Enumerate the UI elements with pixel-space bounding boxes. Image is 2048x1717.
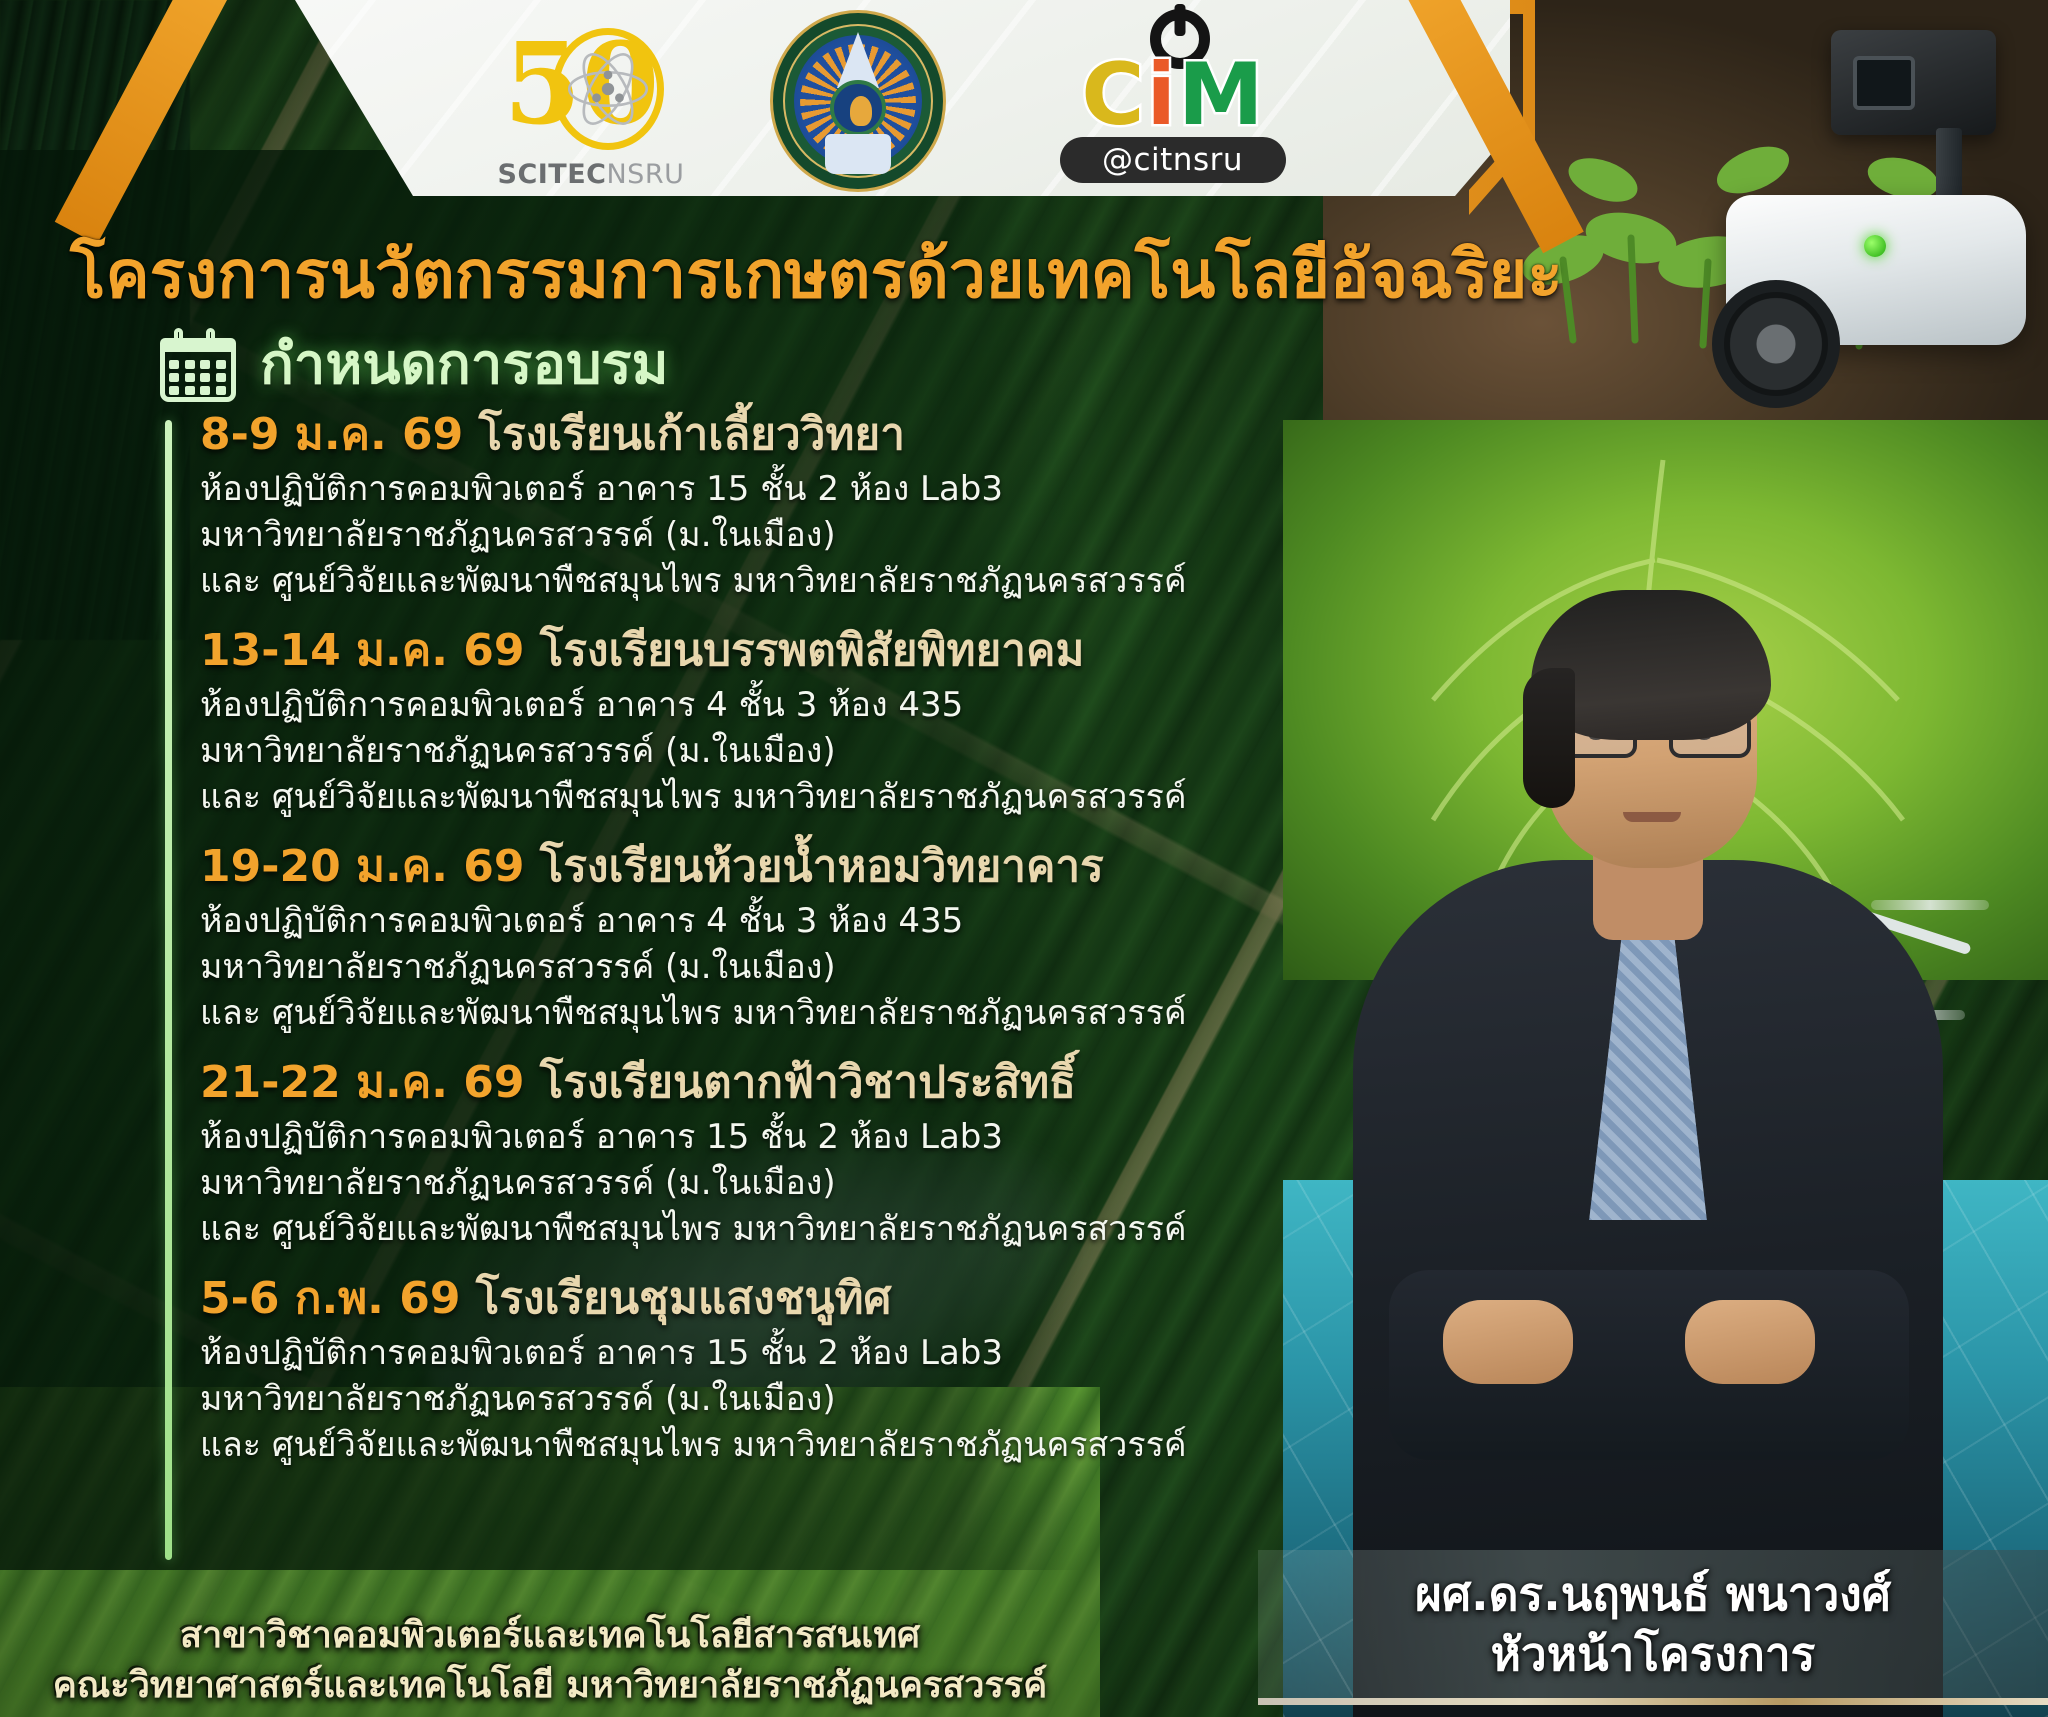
seal-emblem-icon <box>830 80 886 136</box>
footer-faculty: คณะวิทยาศาสตร์และเทคโนโลยี มหาวิทยาลัยรา… <box>0 1661 1100 1711</box>
schedule-event-header: 19-20 ม.ค. 69 โรงเรียนห้วยน้ำหอมวิทยาคาร <box>200 836 1200 898</box>
schedule-event: 5-6 ก.พ. 69 โรงเรียนชุมแสงชนูทิศห้องปฏิบ… <box>200 1268 1200 1468</box>
schedule-event-detail: และ ศูนย์วิจัยและพัฒนาพืชสมุนไพร มหาวิทย… <box>200 1422 1200 1468</box>
logo-50-caption: SCITECNSRU <box>498 159 678 190</box>
schedule-event-school: โรงเรียนตากฟ้าวิชาประสิทธิ์ <box>524 1057 1076 1108</box>
schedule-event-date: 21-22 ม.ค. 69 <box>200 1057 524 1108</box>
schedule-event-detail: ห้องปฏิบัติการคอมพิวเตอร์ อาคาร 15 ชั้น … <box>200 466 1200 512</box>
portrait-hand-left <box>1443 1300 1573 1384</box>
seal-pedestal <box>825 134 891 174</box>
schedule-event-detail: มหาวิทยาลัยราชภัฏนครสวรรค์ (ม.ในเมือง) <box>200 512 1200 558</box>
poster-canvas: 50 SCITECNSRU <box>0 0 2048 1717</box>
atom-icon <box>564 42 652 136</box>
cim-letter-m: M <box>1178 52 1264 138</box>
schedule-event-detail: และ ศูนย์วิจัยและพัฒนาพืชสมุนไพร มหาวิทย… <box>200 774 1200 820</box>
schedule-event-detail: มหาวิทยาลัยราชภัฏนครสวรรค์ (ม.ในเมือง) <box>200 944 1200 990</box>
footer-org: สาขาวิชาคอมพิวเตอร์และเทคโนโลยีสารสนเทศ … <box>0 1611 1100 1711</box>
schedule-heading-label: กำหนดการอบรม <box>260 335 669 395</box>
schedule-event: 21-22 ม.ค. 69 โรงเรียนตากฟ้าวิชาประสิทธิ… <box>200 1052 1200 1252</box>
portrait-project-leader <box>1293 530 1993 1717</box>
schedule-event-date: 5-6 ก.พ. 69 <box>200 1273 460 1324</box>
schedule-event: 13-14 ม.ค. 69 โรงเรียนบรรพตพิสัยพิทยาคมห… <box>200 620 1200 820</box>
schedule-event-detail: ห้องปฏิบัติการคอมพิวเตอร์ อาคาร 15 ชั้น … <box>200 1330 1200 1376</box>
schedule-event-school: โรงเรียนชุมแสงชนูทิศ <box>460 1273 891 1324</box>
schedule-event-detail: มหาวิทยาลัยราชภัฏนครสวรรค์ (ม.ในเมือง) <box>200 1376 1200 1422</box>
page-title: โครงการนวัตกรรมการเกษตรด้วยเทคโนโลยีอัจฉ… <box>70 236 1990 314</box>
schedule-event-detail: ห้องปฏิบัติการคอมพิวเตอร์ อาคาร 15 ชั้น … <box>200 1114 1200 1160</box>
schedule-event-header: 5-6 ก.พ. 69 โรงเรียนชุมแสงชนูทิศ <box>200 1268 1200 1330</box>
cim-letter-i: i <box>1147 52 1176 138</box>
portrait-hand-right <box>1685 1300 1815 1384</box>
schedule-event-school: โรงเรียนห้วยน้ำหอมวิทยาคาร <box>524 841 1103 892</box>
schedule-event-detail: และ ศูนย์วิจัยและพัฒนาพืชสมุนไพร มหาวิทย… <box>200 1206 1200 1252</box>
schedule-event-header: 13-14 ม.ค. 69 โรงเรียนบรรพตพิสัยพิทยาคม <box>200 620 1200 682</box>
schedule-event-school: โรงเรียนบรรพตพิสัยพิทยาคม <box>524 625 1084 676</box>
cim-letter-c: C <box>1081 52 1144 138</box>
schedule-event-school: โรงเรียนเก้าเลี้ยววิทยา <box>463 409 905 460</box>
schedule-timeline-bar <box>165 420 172 1560</box>
schedule-event-date: 13-14 ม.ค. 69 <box>200 625 524 676</box>
portrait-mouth <box>1623 812 1681 822</box>
schedule-event-detail: ห้องปฏิบัติการคอมพิวเตอร์ อาคาร 4 ชั้น 3… <box>200 898 1200 944</box>
schedule-event-header: 21-22 ม.ค. 69 โรงเรียนตากฟ้าวิชาประสิทธิ… <box>200 1052 1200 1114</box>
nameplate-role: หัวหน้าโครงการ <box>1491 1624 1816 1684</box>
schedule-event-detail: และ ศูนย์วิจัยและพัฒนาพืชสมุนไพร มหาวิทย… <box>200 558 1200 604</box>
schedule-event-detail: ห้องปฏิบัติการคอมพิวเตอร์ อาคาร 4 ชั้น 3… <box>200 682 1200 728</box>
schedule-event-detail: มหาวิทยาลัยราชภัฏนครสวรรค์ (ม.ในเมือง) <box>200 728 1200 774</box>
scitec-nsru-50-logo: 50 SCITECNSRU <box>498 16 678 186</box>
schedule-event-detail: และ ศูนย์วิจัยและพัฒนาพืชสมุนไพร มหาวิทย… <box>200 990 1200 1036</box>
calendar-icon <box>160 328 236 402</box>
logo-strip: 50 SCITECNSRU <box>295 6 1510 196</box>
schedule-event-date: 19-20 ม.ค. 69 <box>200 841 524 892</box>
schedule-event-list: 8-9 ม.ค. 69 โรงเรียนเก้าเลี้ยววิทยาห้องป… <box>200 404 1200 1484</box>
schedule-event-header: 8-9 ม.ค. 69 โรงเรียนเก้าเลี้ยววิทยา <box>200 404 1200 466</box>
cim-letters: C i M <box>1038 49 1308 141</box>
schedule-event-detail: มหาวิทยาลัยราชภัฏนครสวรรค์ (ม.ในเมือง) <box>200 1160 1200 1206</box>
nameplate: ผศ.ดร.นฤพนธ์ พนาวงศ์ หัวหน้าโครงการ <box>1258 1550 2048 1705</box>
cim-logo: C i M @citnsru <box>1038 9 1308 194</box>
cim-handle: @citnsru <box>1060 137 1286 183</box>
footer-department: สาขาวิชาคอมพิวเตอร์และเทคโนโลยีสารสนเทศ <box>0 1611 1100 1661</box>
robot-camera-icon <box>1831 30 1996 135</box>
schedule-event: 8-9 ม.ค. 69 โรงเรียนเก้าเลี้ยววิทยาห้องป… <box>200 404 1200 604</box>
nameplate-name: ผศ.ดร.นฤพนธ์ พนาวงศ์ <box>1415 1564 1891 1624</box>
nsru-seal <box>770 10 946 192</box>
schedule-heading: กำหนดการอบรม <box>160 328 669 402</box>
schedule-event-date: 8-9 ม.ค. 69 <box>200 409 463 460</box>
portrait-hair <box>1531 590 1771 740</box>
schedule-event: 19-20 ม.ค. 69 โรงเรียนห้วยน้ำหอมวิทยาคาร… <box>200 836 1200 1036</box>
